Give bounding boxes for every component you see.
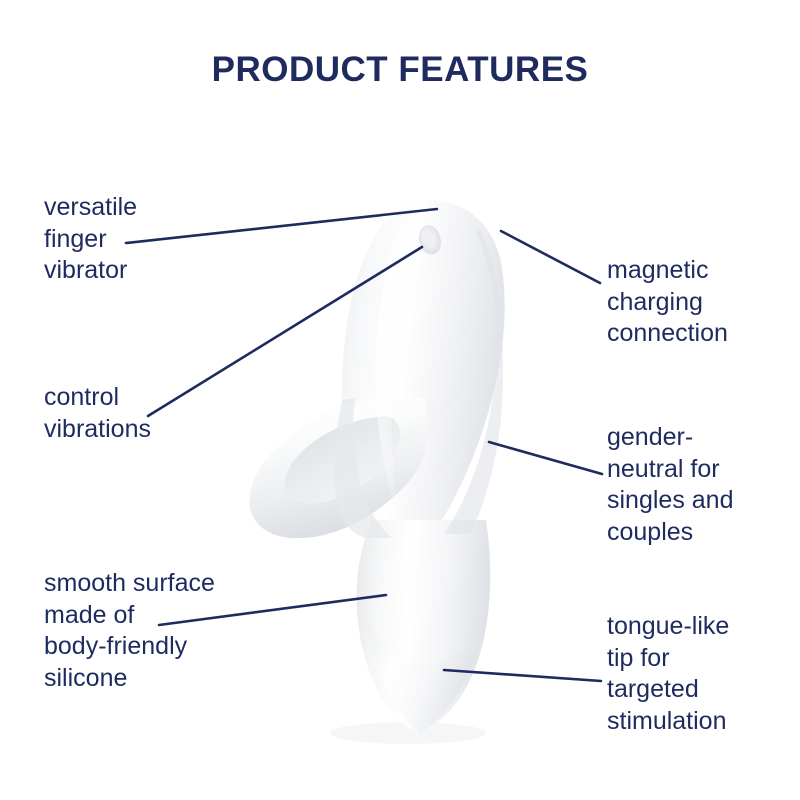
product-illustration [0, 0, 800, 800]
product-features-infographic: PRODUCT FEATURES [0, 0, 800, 800]
